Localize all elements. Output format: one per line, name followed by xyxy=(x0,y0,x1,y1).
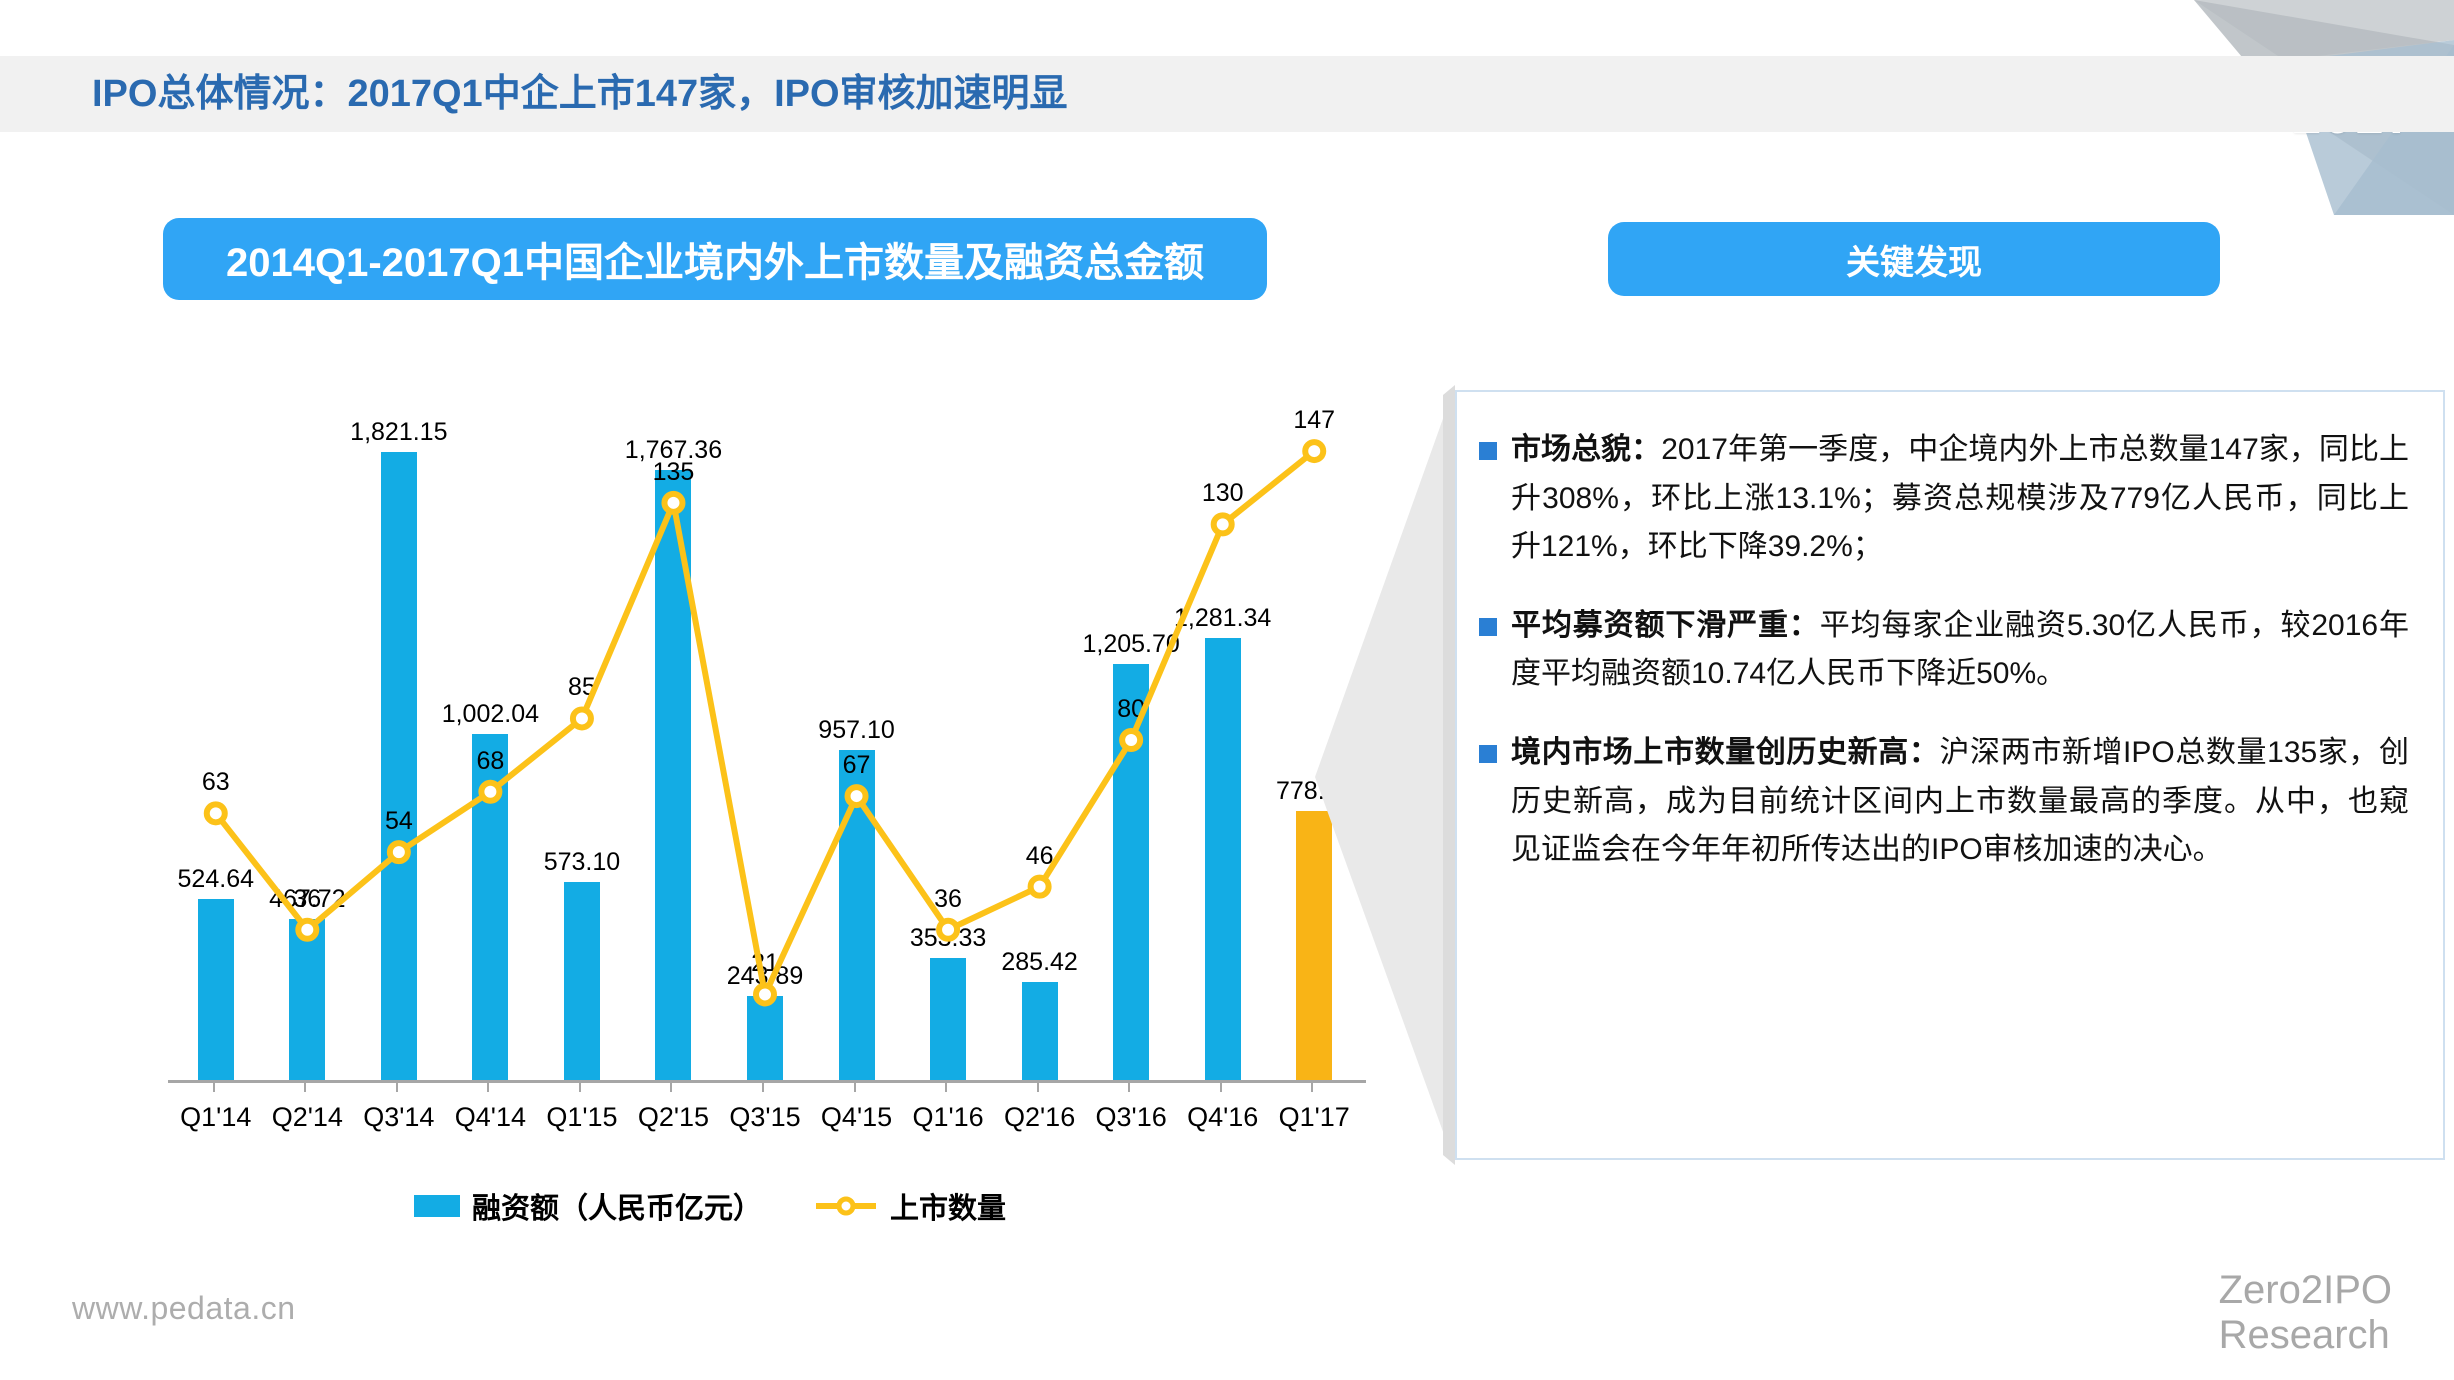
line-marker-Q214 xyxy=(298,921,316,939)
pointer-arrow-icon xyxy=(1315,385,1465,1165)
bullet-square-icon xyxy=(1479,442,1497,460)
line-path xyxy=(216,451,1314,994)
chart-title-banner: 2014Q1-2017Q1中国企业境内外上市数量及融资总金额 xyxy=(163,218,1267,300)
brand-line-1: Zero2IPO xyxy=(2219,1268,2392,1313)
line-marker-Q114 xyxy=(207,804,225,822)
key-finding-text: 市场总貌：2017年第一季度，中企境内外上市总数量147家，同比上升308%，环… xyxy=(1511,426,2409,572)
brand-line-2: Research xyxy=(2219,1313,2392,1358)
brand-logo: Zero2IPO Research xyxy=(2219,1268,2392,1358)
line-marker-Q416 xyxy=(1214,515,1232,533)
chart-plot: 524.6463467.72361,821.15541,002.0468573.… xyxy=(170,390,1360,1080)
key-finding-item: 境内市场上市数量创历史新高：沪深两市新增IPO总数量135家，创历史新高，成为目… xyxy=(1479,729,2409,875)
bullet-square-icon xyxy=(1479,745,1497,763)
x-axis-tick xyxy=(945,1080,947,1092)
x-axis-label-Q215: Q2'15 xyxy=(638,1102,709,1133)
x-axis-label-Q114: Q1'14 xyxy=(180,1102,251,1133)
legend-item-funding: 融资额（人民币亿元） xyxy=(414,1185,762,1227)
x-axis-tick xyxy=(854,1080,856,1092)
x-axis-tick xyxy=(1037,1080,1039,1092)
page-title: IPO总体情况：2017Q1中企上市147家，IPO审核加速明显 xyxy=(92,58,1068,130)
key-finding-text: 境内市场上市数量创历史新高：沪深两市新增IPO总数量135家，创历史新高，成为目… xyxy=(1511,729,2409,875)
bullet-square-icon xyxy=(1479,618,1497,636)
x-axis-label-Q315: Q3'15 xyxy=(729,1102,800,1133)
chart-container: 524.6463467.72361,821.15541,002.0468573.… xyxy=(60,380,1360,1180)
x-axis-line xyxy=(168,1080,1366,1083)
line-marker-Q414 xyxy=(481,783,499,801)
x-axis-tick xyxy=(304,1080,306,1092)
key-finding-lead: 平均募资额下滑严重： xyxy=(1511,609,1820,642)
x-axis-tick xyxy=(396,1080,398,1092)
key-finding-item: 平均募资额下滑严重：平均每家企业融资5.30亿人民币，较2016年度平均融资额1… xyxy=(1479,602,2409,699)
line-marker-Q316 xyxy=(1122,731,1140,749)
line-marker-Q115 xyxy=(573,709,591,727)
key-finding-lead: 市场总貌： xyxy=(1511,433,1661,466)
x-axis-label-Q216: Q2'16 xyxy=(1004,1102,1075,1133)
line-series-overlay xyxy=(170,390,1360,1090)
x-axis-tick xyxy=(670,1080,672,1092)
line-marker-Q415 xyxy=(848,787,866,805)
x-axis-tick xyxy=(213,1080,215,1092)
x-axis-tick xyxy=(762,1080,764,1092)
line-marker-Q116 xyxy=(939,921,957,939)
legend-swatch-line-icon xyxy=(814,1194,878,1218)
legend-label-count: 上市数量 xyxy=(890,1185,1006,1227)
line-marker-Q215 xyxy=(664,494,682,512)
x-axis-label-Q415: Q4'15 xyxy=(821,1102,892,1133)
line-marker-Q216 xyxy=(1031,878,1049,896)
x-axis-tick xyxy=(1220,1080,1222,1092)
line-marker-Q314 xyxy=(390,843,408,861)
x-axis-label-Q116: Q1'16 xyxy=(912,1102,983,1133)
legend-label-funding: 融资额（人民币亿元） xyxy=(472,1185,762,1227)
x-axis-label-Q115: Q1'15 xyxy=(546,1102,617,1133)
line-marker-Q315 xyxy=(756,985,774,1003)
legend-swatch-bar-icon xyxy=(414,1195,460,1217)
key-finding-item: 市场总貌：2017年第一季度，中企境内外上市总数量147家，同比上升308%，环… xyxy=(1479,426,2409,572)
x-axis-label-Q316: Q3'16 xyxy=(1096,1102,1167,1133)
x-axis-label-Q416: Q4'16 xyxy=(1187,1102,1258,1133)
x-axis-tick xyxy=(1128,1080,1130,1092)
x-axis-tick xyxy=(487,1080,489,1092)
chart-legend: 融资额（人民币亿元） 上市数量 xyxy=(60,1185,1360,1227)
x-axis-label-Q214: Q2'14 xyxy=(272,1102,343,1133)
x-axis-tick xyxy=(579,1080,581,1092)
site-url: www.pedata.cn xyxy=(72,1290,296,1327)
legend-item-count: 上市数量 xyxy=(814,1185,1006,1227)
x-axis-label-Q414: Q4'14 xyxy=(455,1102,526,1133)
key-findings-panel: 市场总貌：2017年第一季度，中企境内外上市总数量147家，同比上升308%，环… xyxy=(1455,390,2445,1160)
key-findings-banner: 关键发现 xyxy=(1608,222,2220,296)
x-axis-tick xyxy=(1311,1080,1313,1092)
x-axis-label-Q314: Q3'14 xyxy=(363,1102,434,1133)
key-finding-lead: 境内市场上市数量创历史新高： xyxy=(1511,736,1939,769)
key-finding-text: 平均募资额下滑严重：平均每家企业融资5.30亿人民币，较2016年度平均融资额1… xyxy=(1511,602,2409,699)
